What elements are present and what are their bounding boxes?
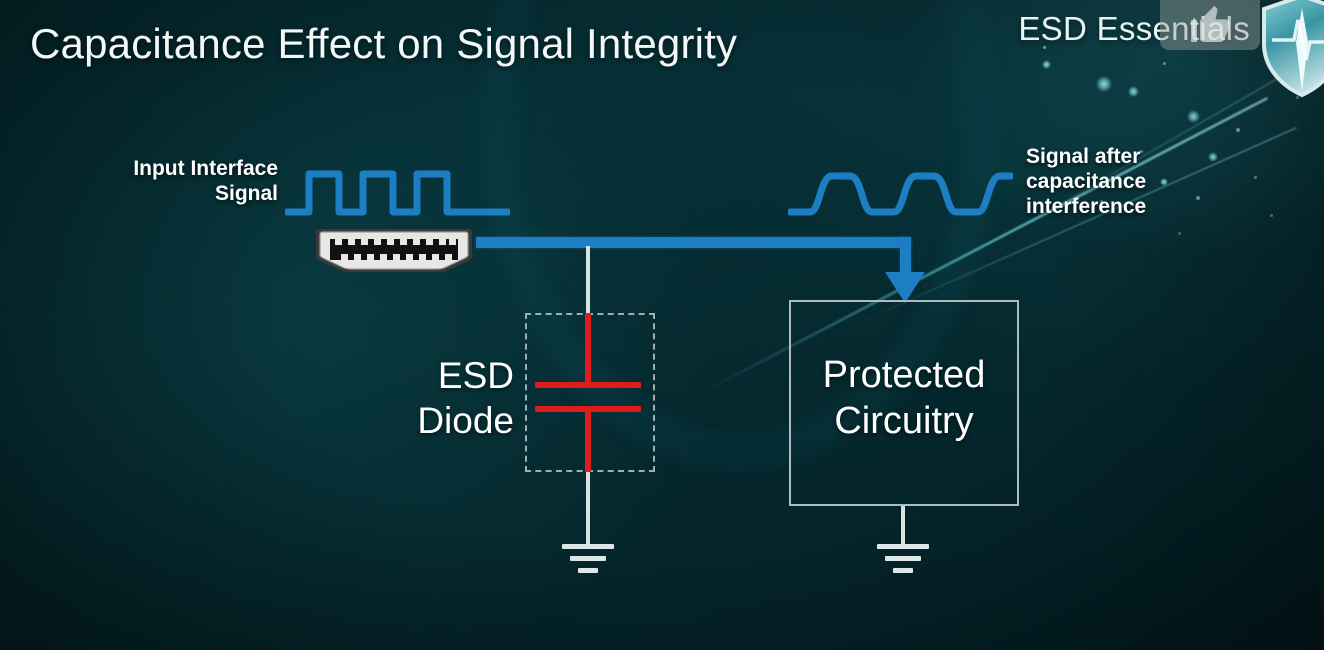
protected-circuitry-label: Protected Circuitry [790,352,1018,445]
glow-particle [1187,110,1200,123]
signal-wire-horizontal [476,237,911,248]
particle-dot [1163,62,1166,65]
capacitor-stem-bottom [585,410,591,472]
page-title: Capacitance Effect on Signal Integrity [30,20,737,68]
output-signal-label-line1: Signal after [1026,145,1256,170]
input-signal-label: Input Interface Signal [88,157,278,207]
glow-particle [1042,60,1051,69]
ground-bar [570,556,606,561]
ground-bar [893,568,913,573]
esd-diode-label-line1: ESD [404,353,514,398]
ground-bar [578,568,598,573]
glow-particle [1128,86,1139,97]
output-waveform [788,166,1013,221]
slide-canvas: Capacitance Effect on Signal Integrity E… [0,0,1324,650]
hdmi-connector [308,228,480,274]
ground-bar [562,544,614,549]
protected-ground-wire [901,506,905,544]
background-effects [0,0,1324,650]
particle-dot [1178,232,1181,235]
branch-wire-top [586,246,590,316]
capacitor-plate-top [535,382,641,388]
esd-diode-label-line2: Diode [404,398,514,443]
ground-bar [877,544,929,549]
protected-circuitry-label-line1: Protected [790,352,1018,398]
branch-wire-bottom [586,470,590,544]
shield-pulse-icon [1258,0,1324,98]
input-signal-label-line2: Signal [88,182,278,207]
ground-bar [885,556,921,561]
vignette [0,0,1324,650]
output-signal-label-line3: interference [1026,195,1256,220]
particle-dot [1270,214,1273,217]
esd-diode-label: ESD Diode [404,353,514,443]
glow-particle [1096,76,1112,92]
input-signal-label-line1: Input Interface [88,157,278,182]
particle-dot [1236,128,1240,132]
thumbs-up-icon [1186,0,1234,48]
capacitor-stem-top [585,313,591,385]
input-waveform [285,166,510,221]
output-signal-label: Signal after capacitance interference [1026,145,1256,219]
output-signal-label-line2: capacitance [1026,170,1256,195]
thumbs-up-overlay[interactable] [1160,0,1260,50]
signal-flow-arrow [880,266,930,304]
protected-circuitry-label-line2: Circuitry [790,398,1018,444]
